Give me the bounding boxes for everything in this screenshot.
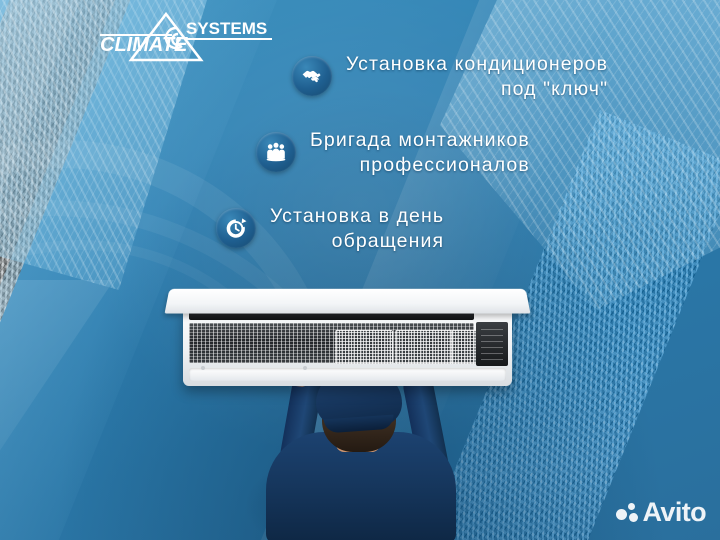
ac-front-cover: [165, 289, 531, 314]
logo-word-climate: CLIMATE: [100, 34, 188, 56]
ac-screw: [201, 366, 205, 370]
feature-item-same-day-installation: Установка в день обращения: [216, 204, 444, 254]
promo-banner: CLIMATE SYSTEMS Установка кондиционеров …: [0, 0, 720, 540]
avito-label: Avito: [643, 499, 707, 526]
air-conditioner-unit: [175, 288, 520, 388]
technician-figure: [244, 368, 476, 540]
brand-logo: CLIMATE SYSTEMS: [98, 8, 278, 62]
ac-control-panel: [476, 322, 508, 366]
clock-arrow-icon: [216, 208, 256, 248]
feature-line-2: обращения: [270, 229, 444, 254]
triangle-swirl-icon: CLIMATE SYSTEMS: [98, 8, 278, 62]
feature-item-professional-team: Бригада монтажников профессионалов: [256, 128, 530, 178]
feature-line-2: профессионалов: [310, 153, 530, 178]
feature-text: Бригада монтажников профессионалов: [310, 128, 530, 178]
feature-line-1: Бригада монтажников: [310, 128, 530, 153]
feature-text: Установка в день обращения: [270, 204, 444, 254]
feature-item-turnkey-installation: Установка кондиционеров под "ключ": [292, 52, 608, 102]
feature-text: Установка кондиционеров под "ключ": [346, 52, 608, 102]
avito-watermark: Avito: [616, 499, 707, 526]
ac-screw: [303, 366, 307, 370]
feature-line-1: Установка в день: [270, 204, 444, 229]
ac-body: [183, 308, 512, 386]
group-people-icon: [256, 132, 296, 172]
ac-filter-panel: [395, 330, 453, 364]
handshake-icon: [292, 56, 332, 96]
ac-filter-panel: [335, 330, 393, 364]
ac-louver: [189, 368, 506, 381]
avito-dots-icon: [616, 502, 638, 524]
feature-line-2: под "ключ": [346, 77, 608, 102]
feature-line-1: Установка кондиционеров: [346, 52, 608, 77]
logo-word-systems: SYSTEMS: [186, 19, 267, 38]
